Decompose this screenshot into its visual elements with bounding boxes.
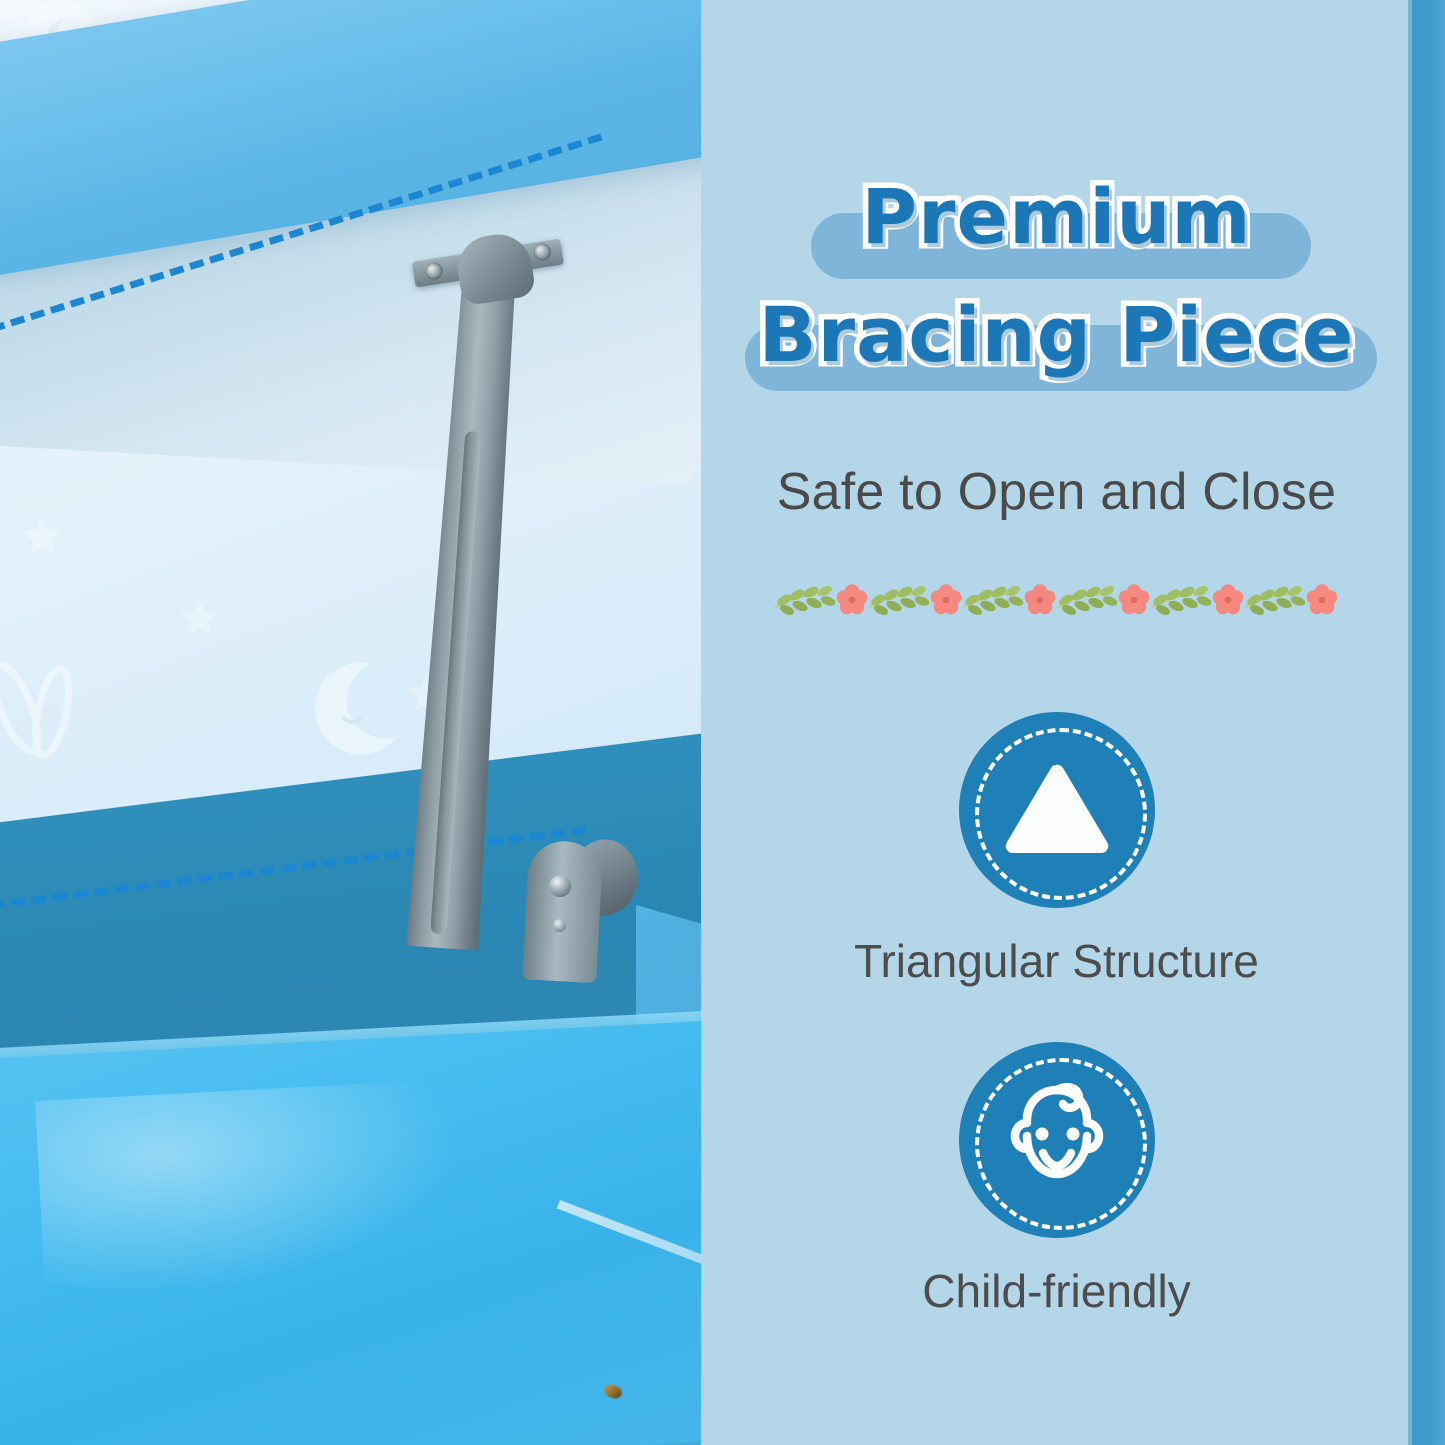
- baby-face-icon: [959, 1042, 1155, 1238]
- feature-triangular-structure: Triangular Structure: [701, 712, 1412, 988]
- pivot-arm-plate: [522, 839, 603, 983]
- floral-divider-icon: [774, 578, 1340, 624]
- right-edge-stripe: [1412, 0, 1445, 1445]
- headline-line-2: Bracing Piece: [701, 283, 1412, 387]
- subtitle: Safe to Open and Close: [701, 462, 1412, 522]
- front-panel-sheen: [35, 1079, 465, 1301]
- feature-child-friendly: Child-friendly: [701, 1042, 1412, 1318]
- feature-icon-badge: [959, 712, 1155, 908]
- feature-icon-badge: [959, 1042, 1155, 1238]
- headline-line-1-row: Premium: [701, 165, 1412, 283]
- lower-pivot-bracket: [508, 829, 646, 986]
- feature-label: Child-friendly: [701, 1264, 1412, 1318]
- headline-line-1: Premium: [701, 165, 1412, 269]
- triangle-icon: [959, 712, 1155, 908]
- product-photo: [0, 0, 701, 1445]
- feature-label: Triangular Structure: [701, 934, 1412, 988]
- floral-vine-divider: [701, 578, 1412, 624]
- info-panel: Premium Bracing Piece Safe to Open and C…: [701, 0, 1445, 1445]
- headline-line-2-row: Bracing Piece: [701, 283, 1412, 401]
- headline-block: Premium Bracing Piece: [701, 165, 1412, 401]
- product-feature-image: Premium Bracing Piece Safe to Open and C…: [0, 0, 1445, 1445]
- pivot-knuckle: [453, 230, 536, 307]
